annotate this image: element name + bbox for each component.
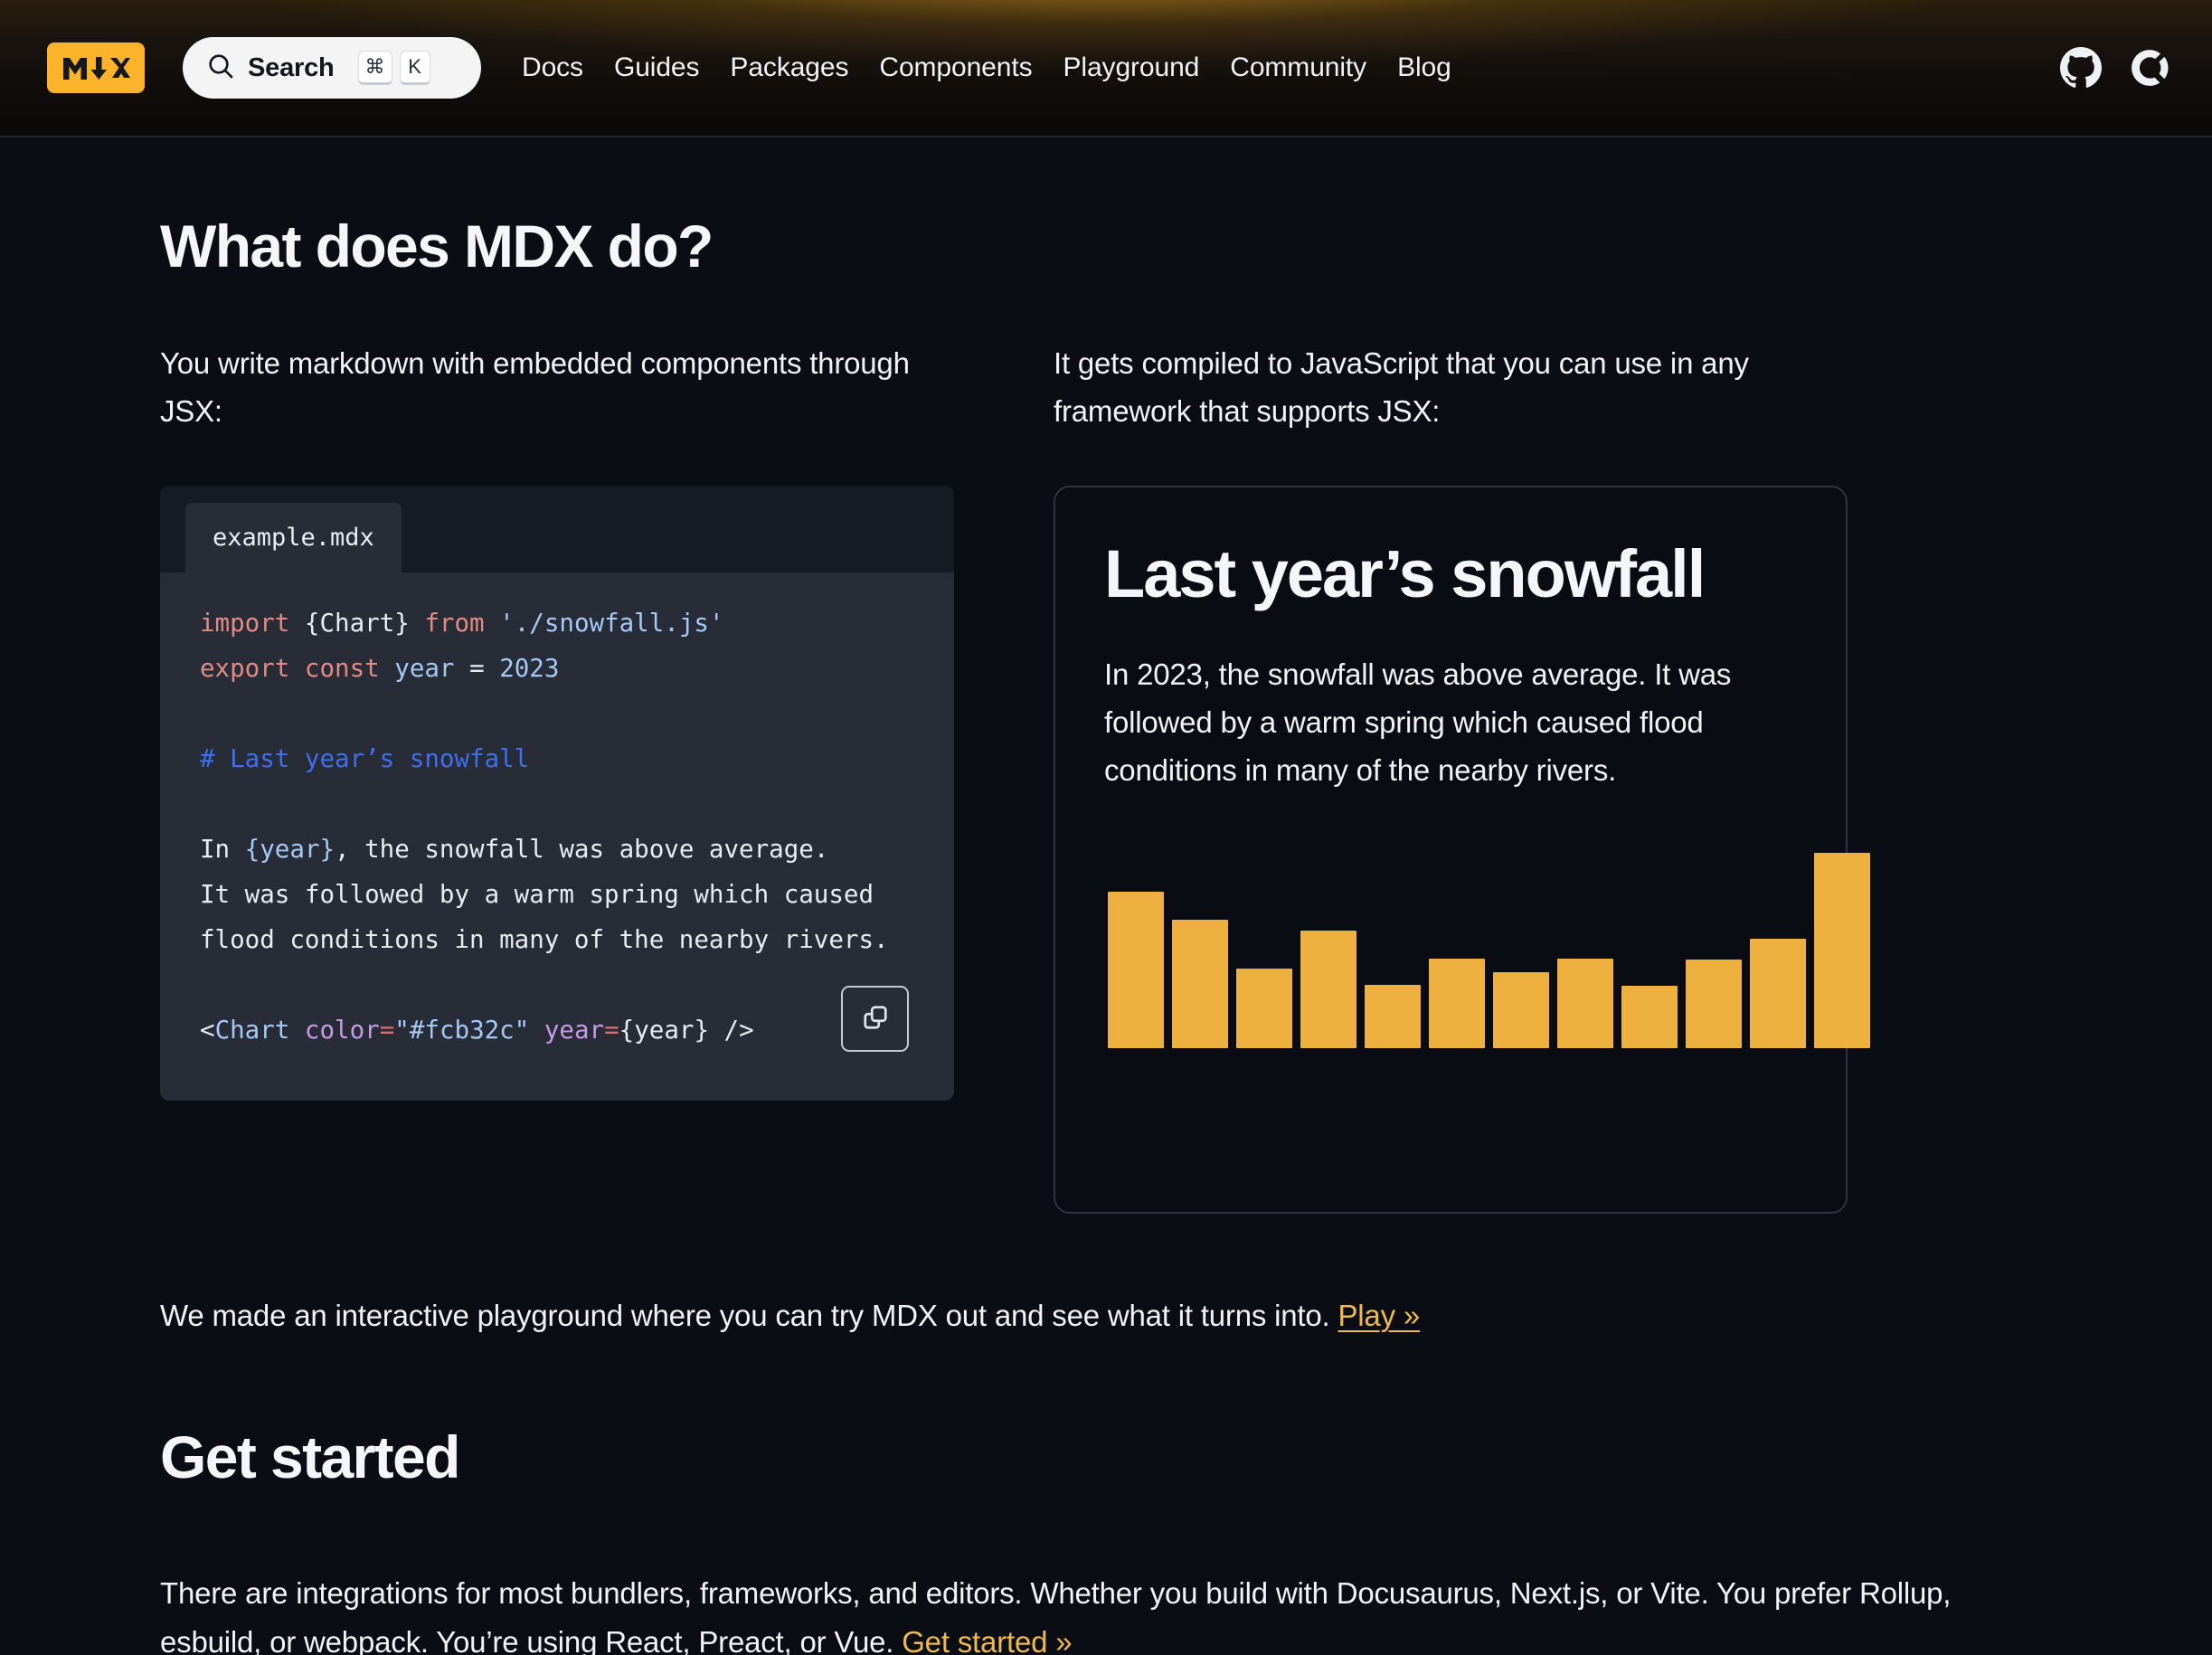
get-started-paragraph: There are integrations for most bundlers…	[160, 1569, 2052, 1655]
code-example-card: example.mdx import {Chart} from './snowf…	[160, 486, 954, 1101]
code-token	[289, 1016, 305, 1045]
code-line	[200, 699, 954, 729]
nav-item-packages[interactable]: Packages	[714, 43, 864, 92]
code-token: {year}	[245, 835, 335, 864]
code-token: color	[305, 1016, 380, 1045]
preview-paragraph: In 2023, the snowfall was above average.…	[1104, 650, 1797, 795]
preview-heading: Last year’s snowfall	[1104, 538, 1797, 610]
get-started-title: Get started	[160, 1423, 2052, 1491]
two-column-layout: You write markdown with embedded compone…	[160, 340, 2052, 1214]
search-icon	[206, 52, 235, 85]
main-content: What does MDX do? You write markdown wit…	[0, 212, 2212, 1655]
chart-bar	[1365, 985, 1421, 1048]
search-input[interactable]: Search ⌘ K	[183, 37, 481, 99]
chart-bar	[1621, 986, 1678, 1047]
snowfall-bar-chart	[1104, 838, 1797, 1048]
code-token: './snowfall.js'	[499, 609, 723, 638]
chart-bar	[1300, 931, 1357, 1048]
code-token: {Chart}	[305, 609, 410, 638]
page-title: What does MDX do?	[160, 212, 2052, 280]
mdx-logo-icon	[61, 54, 130, 81]
code-token: =	[469, 654, 485, 683]
left-column: You write markdown with embedded compone…	[160, 340, 954, 1214]
code-line	[200, 790, 954, 819]
chart-bar	[1108, 892, 1164, 1048]
copy-code-button[interactable]	[841, 986, 909, 1052]
code-token: It was followed by a warm spring which c…	[200, 880, 874, 909]
chart-bar	[1236, 969, 1292, 1048]
code-token: <	[200, 1016, 215, 1045]
code-tab-example-mdx[interactable]: example.mdx	[185, 503, 402, 572]
code-token: =	[380, 1016, 395, 1045]
header-social-links	[2060, 47, 2170, 89]
code-token	[529, 1016, 544, 1045]
kbd-cmd: ⌘	[358, 51, 392, 85]
mdx-logo[interactable]	[47, 43, 145, 93]
chart-bar	[1172, 920, 1228, 1048]
chart-bar	[1493, 972, 1549, 1048]
chart-bar	[1686, 960, 1742, 1047]
copy-icon	[859, 1001, 892, 1036]
code-token	[485, 609, 500, 638]
code-tabbar: example.mdx	[160, 486, 954, 572]
code-token: const	[305, 654, 380, 683]
chart-bar	[1429, 959, 1485, 1048]
code-lines: import {Chart} from './snowfall.js'expor…	[200, 609, 954, 1045]
playground-paragraph-text: We made an interactive playground where …	[160, 1299, 1338, 1332]
code-line: In {year}, the snowfall was above averag…	[200, 835, 954, 865]
left-lead-text: You write markdown with embedded compone…	[160, 340, 954, 436]
nav-item-docs[interactable]: Docs	[506, 43, 599, 92]
code-line: flood conditions in many of the nearby r…	[200, 925, 954, 955]
header-inner: Search ⌘ K Docs Guides Packages Componen…	[0, 37, 2212, 99]
opencollective-link[interactable]	[2129, 47, 2170, 89]
site-header: Search ⌘ K Docs Guides Packages Componen…	[0, 0, 2212, 137]
code-token	[289, 609, 305, 638]
code-line: # Last year’s snowfall	[200, 744, 954, 774]
code-token: "#fcb32c"	[394, 1016, 529, 1045]
primary-nav: Docs Guides Packages Components Playgrou…	[506, 43, 1467, 92]
play-link[interactable]: Play »	[1338, 1299, 1420, 1332]
nav-item-components[interactable]: Components	[864, 43, 1047, 92]
right-column: It gets compiled to JavaScript that you …	[1054, 340, 1848, 1214]
code-token: =	[604, 1016, 619, 1045]
code-token: , the snowfall was above average.	[335, 835, 828, 864]
code-token: Chart	[215, 1016, 290, 1045]
code-token: # Last year’s snowfall	[200, 744, 529, 773]
code-token: flood conditions in many of the nearby r…	[200, 925, 889, 954]
chart-bar	[1557, 959, 1613, 1048]
code-token: year	[394, 654, 454, 683]
code-token: 2023	[499, 654, 559, 683]
code-token: {year}	[619, 1016, 709, 1045]
code-token	[380, 654, 395, 683]
code-token: from	[424, 609, 484, 638]
code-token: />	[709, 1016, 754, 1045]
code-line: export const year = 2023	[200, 654, 954, 684]
nav-item-playground[interactable]: Playground	[1047, 43, 1215, 92]
code-token: In	[200, 835, 245, 864]
nav-item-blog[interactable]: Blog	[1382, 43, 1467, 92]
content-container: What does MDX do? You write markdown wit…	[129, 212, 2083, 1655]
code-token: year	[544, 1016, 604, 1045]
code-token: export	[200, 654, 289, 683]
chart-bar	[1750, 939, 1806, 1048]
github-icon	[2060, 77, 2102, 92]
github-link[interactable]	[2060, 47, 2102, 89]
nav-item-guides[interactable]: Guides	[599, 43, 714, 92]
chart-bar	[1814, 853, 1870, 1048]
code-token	[410, 609, 425, 638]
code-token: import	[200, 609, 289, 638]
nav-item-community[interactable]: Community	[1215, 43, 1382, 92]
code-block[interactable]: import {Chart} from './snowfall.js'expor…	[160, 572, 954, 1101]
code-token	[485, 654, 500, 683]
get-started-link[interactable]: Get started »	[902, 1625, 1072, 1655]
search-shortcut: ⌘ K	[358, 51, 430, 85]
code-line: import {Chart} from './snowfall.js'	[200, 609, 954, 638]
code-line: It was followed by a warm spring which c…	[200, 880, 954, 910]
code-token	[289, 654, 305, 683]
playground-paragraph: We made an interactive playground where …	[160, 1291, 2052, 1339]
code-token	[455, 654, 470, 683]
rendered-output-card: Last year’s snowfall In 2023, the snowfa…	[1054, 486, 1848, 1214]
kbd-k: K	[400, 51, 430, 85]
search-placeholder: Search	[248, 53, 335, 83]
opencollective-icon	[2129, 77, 2170, 92]
right-lead-text: It gets compiled to JavaScript that you …	[1054, 340, 1848, 436]
